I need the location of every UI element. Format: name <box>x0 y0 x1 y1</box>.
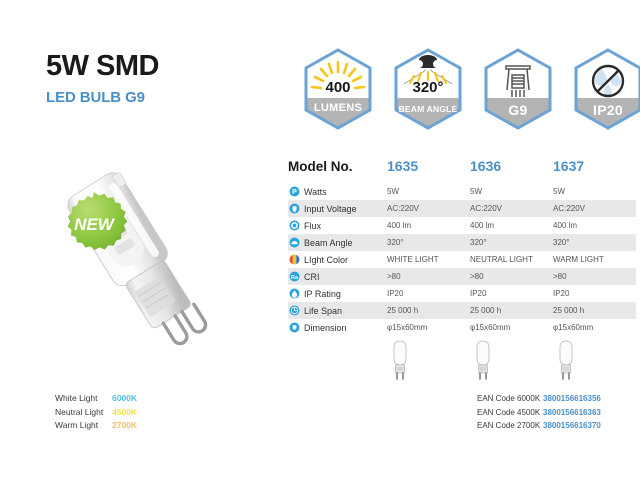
row-label: Beam Angle <box>304 238 353 248</box>
model-number-1637: 1637 <box>553 158 636 174</box>
beam-angle-icon <box>289 237 300 248</box>
row-label-cell: IP Rating <box>288 288 387 299</box>
droplet-icon <box>289 288 300 299</box>
row-value: AC:220V <box>387 204 470 213</box>
bulb-thumbnail-row <box>288 339 636 383</box>
row-value: 5W <box>470 187 553 196</box>
row-label: CRI <box>304 272 320 282</box>
clock-icon <box>289 305 300 316</box>
table-row: Flux 400 lm 400 lm 400 lm <box>288 217 636 234</box>
row-label: Watts <box>304 187 327 197</box>
table-header-row: Model No. 1635 1636 1637 <box>288 158 636 183</box>
row-value: 400 lm <box>470 221 553 230</box>
legend-kelvin: 4500K <box>112 406 137 420</box>
ean-item: EAN Code 6000K 3800156616356 <box>477 392 601 406</box>
plug-icon <box>289 203 300 214</box>
row-label: Dimension <box>304 323 347 333</box>
row-value: 5W <box>387 187 470 196</box>
row-value: φ15x60mm <box>387 323 470 332</box>
legend-item: Neutral Light 4500K <box>55 406 137 420</box>
color-temperature-legend: White Light 6000K Neutral Light 4500K Wa… <box>55 392 137 433</box>
table-row: Ra CRI >80 >80 >80 <box>288 268 636 285</box>
badge-base: G9 <box>480 46 556 132</box>
row-label-cell: Ra CRI <box>288 271 387 282</box>
watts-icon: P <box>289 186 300 197</box>
row-label: IP Rating <box>304 289 341 299</box>
legend-name: White Light <box>55 392 112 406</box>
badge-beam-angle: 320° BEAM ANGLE <box>390 46 466 132</box>
bulb-thumbnail <box>553 339 636 383</box>
table-row: Input Voltage AC:220V AC:220V AC:220V <box>288 200 636 217</box>
legend-item: White Light 6000K <box>55 392 137 406</box>
row-value: φ15x60mm <box>470 323 553 332</box>
row-value: AC:220V <box>470 204 553 213</box>
row-value: 5W <box>553 187 636 196</box>
badge-ip-rating: IP20 <box>570 46 640 132</box>
svg-text:P: P <box>292 189 297 196</box>
product-image: NEW <box>8 150 278 390</box>
table-row: LIght Color WHITE LIGHT NEUTRAL LIGHT WA… <box>288 251 636 268</box>
row-value: 320° <box>553 238 636 247</box>
legend-item: Warm Light 2700K <box>55 419 137 433</box>
row-value: 400 lm <box>553 221 636 230</box>
row-value: φ15x60mm <box>553 323 636 332</box>
ean-item: EAN Code 2700K 3800156616370 <box>477 419 601 433</box>
row-label-cell: Flux <box>288 220 387 231</box>
row-value: NEUTRAL LIGHT <box>470 255 553 264</box>
row-value: >80 <box>387 272 470 281</box>
badge-lumens: 400 LUMENS <box>300 46 376 132</box>
ean-value: 3800156616370 <box>543 419 601 433</box>
legend-name: Neutral Light <box>55 406 112 420</box>
ean-code-list: EAN Code 6000K 3800156616356 EAN Code 45… <box>477 392 601 433</box>
cri-icon: Ra <box>289 271 300 282</box>
row-label: LIght Color <box>304 255 348 265</box>
row-value: 25 000 h <box>553 306 636 315</box>
dimension-icon <box>289 322 300 333</box>
product-spec-sheet: 5W SMD LED BULB G9 <box>0 0 640 480</box>
legend-name: Warm Light <box>55 419 112 433</box>
title-block: 5W SMD LED BULB G9 <box>46 52 159 105</box>
ean-item: EAN Code 4500K 3800156616363 <box>477 406 601 420</box>
spec-table: Model No. 1635 1636 1637 P Watts 5W 5W 5… <box>288 158 636 383</box>
page-subtitle: LED BULB G9 <box>46 90 159 105</box>
row-label-cell: Dimension <box>288 322 387 333</box>
row-value: 25 000 h <box>470 306 553 315</box>
row-value: 320° <box>470 238 553 247</box>
row-value: IP20 <box>553 289 636 298</box>
row-value: >80 <box>553 272 636 281</box>
row-label-cell: Input Voltage <box>288 203 387 214</box>
ean-label: EAN Code 2700K <box>477 419 543 433</box>
legend-kelvin: 2700K <box>112 419 137 433</box>
row-value: AC:220V <box>553 204 636 213</box>
row-label-cell: Beam Angle <box>288 237 387 248</box>
row-label-cell: LIght Color <box>288 254 387 265</box>
ean-value: 3800156616363 <box>543 406 601 420</box>
row-value: 400 lm <box>387 221 470 230</box>
ean-label: EAN Code 6000K <box>477 392 543 406</box>
svg-text:Ra: Ra <box>291 275 299 281</box>
row-value: IP20 <box>470 289 553 298</box>
row-label: Input Voltage <box>304 204 357 214</box>
badge-row: 400 LUMENS <box>300 46 640 132</box>
table-row: Dimension φ15x60mm φ15x60mm φ15x60mm <box>288 319 636 336</box>
new-badge-label: NEW <box>74 215 116 234</box>
table-row: Life Span 25 000 h 25 000 h 25 000 h <box>288 302 636 319</box>
bulb-thumbnail <box>387 339 470 383</box>
row-label: Flux <box>304 221 321 231</box>
table-row: IP Rating IP20 IP20 IP20 <box>288 285 636 302</box>
table-row: Beam Angle 320° 320° 320° <box>288 234 636 251</box>
row-label: Life Span <box>304 306 342 316</box>
row-value: 320° <box>387 238 470 247</box>
table-row: P Watts 5W 5W 5W <box>288 183 636 200</box>
ean-label: EAN Code 4500K <box>477 406 543 420</box>
row-label-cell: Life Span <box>288 305 387 316</box>
row-value: IP20 <box>387 289 470 298</box>
light-color-icon <box>289 254 300 265</box>
table-header-label: Model No. <box>288 159 387 174</box>
row-label-cell: P Watts <box>288 186 387 197</box>
ean-value: 3800156616356 <box>543 392 601 406</box>
page-title: 5W SMD <box>46 52 159 81</box>
bulb-thumbnail <box>470 339 553 383</box>
row-value: WARM LIGHT <box>553 255 636 264</box>
row-value: 25 000 h <box>387 306 470 315</box>
row-value: >80 <box>470 272 553 281</box>
legend-kelvin: 6000K <box>112 392 137 406</box>
model-number-1635: 1635 <box>387 158 470 174</box>
flux-icon <box>289 220 300 231</box>
row-value: WHITE LIGHT <box>387 255 470 264</box>
model-number-1636: 1636 <box>470 158 553 174</box>
